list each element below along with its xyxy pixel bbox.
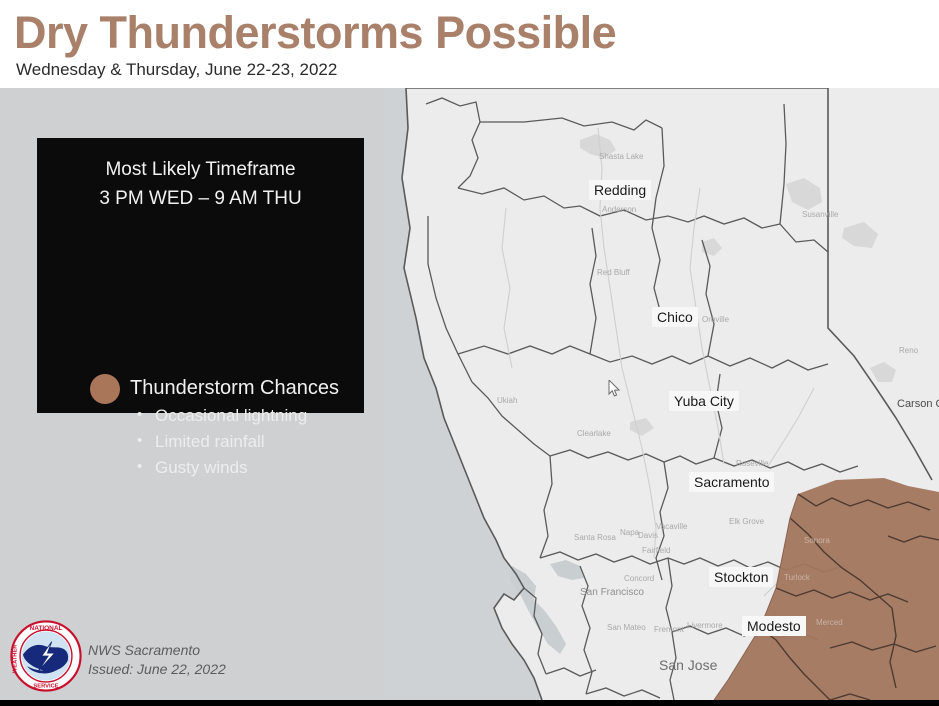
- legend-heading-timeframe: Most Likely Timeframe: [37, 155, 364, 184]
- minor-place-label: Anderson: [602, 205, 636, 215]
- minor-place-label: Oroville: [702, 315, 729, 325]
- legend-category-label: Thunderstorm Chances: [130, 374, 339, 402]
- map-panel[interactable]: Shasta Lake Anderson Red Bluff Susanvill…: [384, 88, 939, 700]
- minor-place-label: Clearlake: [577, 429, 611, 439]
- minor-place-label: Merced: [816, 618, 843, 628]
- city-label-chico: Chico: [652, 307, 698, 327]
- svg-text:NATIONAL: NATIONAL: [30, 625, 63, 632]
- svg-text:SERVICE: SERVICE: [33, 684, 58, 690]
- minor-place-label: Ukiah: [497, 396, 517, 406]
- city-label-carson-city: Carson City: [892, 394, 939, 414]
- minor-place-label: Susanville: [802, 210, 838, 220]
- minor-place-label: Red Bluff: [597, 268, 630, 278]
- nws-office-label: NWS Sacramento: [88, 641, 226, 660]
- minor-place-label: Roseville: [736, 459, 768, 469]
- minor-place-label: Reno: [899, 346, 918, 356]
- list-item: Limited rainfall: [133, 429, 307, 455]
- issued-label: Issued: June 22, 2022: [88, 660, 226, 679]
- minor-place-label: San Mateo: [607, 623, 646, 633]
- header: Dry Thunderstorms Possible Wednesday & T…: [0, 0, 939, 88]
- attribution: NWS Sacramento Issued: June 22, 2022: [88, 641, 226, 679]
- legend-swatch-icon: [90, 374, 120, 404]
- minor-place-label: San Francisco: [580, 588, 644, 598]
- nws-seal-logo-icon: NATIONAL SERVICE WEATHER: [10, 620, 82, 692]
- svg-text:WEATHER: WEATHER: [12, 644, 18, 673]
- page-title: Dry Thunderstorms Possible: [14, 8, 616, 58]
- page-subtitle: Wednesday & Thursday, June 22-23, 2022: [16, 60, 337, 80]
- minor-place-label: Elk Grove: [729, 517, 764, 527]
- minor-place-label: Livermore: [687, 621, 723, 631]
- map-canvas[interactable]: [384, 88, 939, 700]
- city-label-modesto: Modesto: [742, 616, 806, 636]
- minor-place-label: Turlock: [784, 573, 810, 583]
- minor-place-label: Napa: [620, 528, 639, 538]
- minor-place-label: Santa Rosa: [574, 533, 616, 543]
- city-label-redding: Redding: [589, 180, 651, 200]
- legend-heading-hours: 3 PM WED – 9 AM THU: [37, 184, 364, 213]
- mouse-pointer-icon: [608, 380, 620, 397]
- city-label-yuba-city: Yuba City: [669, 391, 739, 411]
- legend-bullet-list: Occasional lightning Limited rainfall Gu…: [133, 403, 307, 481]
- minor-place-label: Shasta Lake: [599, 152, 643, 162]
- minor-place-label: Davis: [638, 531, 658, 541]
- city-label-sacramento: Sacramento: [689, 472, 774, 492]
- city-label-san-jose: San Jose: [654, 655, 722, 675]
- city-label-stockton: Stockton: [709, 567, 773, 587]
- minor-place-label: Fairfield: [642, 546, 670, 556]
- list-item: Gusty winds: [133, 455, 307, 481]
- weather-graphic: Dry Thunderstorms Possible Wednesday & T…: [0, 0, 939, 706]
- list-item: Occasional lightning: [133, 403, 307, 429]
- minor-place-label: Vacaville: [656, 522, 687, 532]
- minor-place-label: Concord: [624, 574, 654, 584]
- bottom-bar: [0, 700, 939, 706]
- minor-place-label: Fremont: [654, 625, 684, 635]
- legend-box: Most Likely Timeframe 3 PM WED – 9 AM TH…: [37, 138, 364, 413]
- minor-place-label: Sonora: [804, 536, 830, 546]
